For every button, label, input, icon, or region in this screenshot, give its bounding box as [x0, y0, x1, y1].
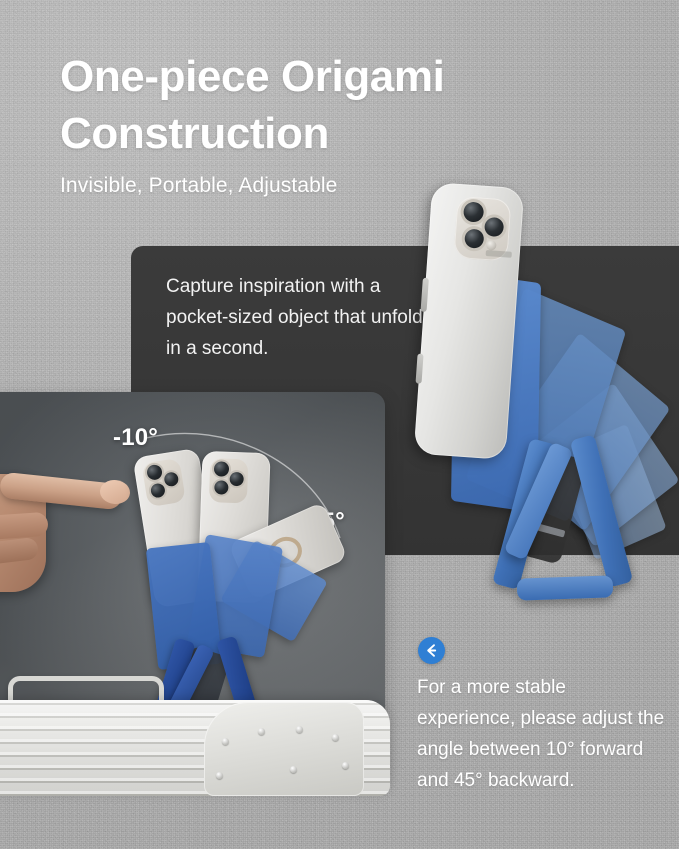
stability-note-text: For a more stable experience, please adj…	[417, 672, 667, 796]
suitcase-rivet	[296, 726, 303, 733]
product-photo-phone-stand	[405, 185, 679, 615]
suitcase-rivet	[258, 728, 265, 735]
product-feature-page: One-piece Origami Construction Invisible…	[0, 0, 679, 849]
feature-dark-card-text: Capture inspiration with a pocket-sized …	[166, 271, 436, 364]
camera-module	[142, 458, 186, 507]
pointing-hand	[0, 452, 130, 602]
suitcase-rivet	[290, 766, 297, 773]
kickstand-leg-right	[570, 434, 633, 587]
suitcase-rivet	[332, 734, 339, 741]
arrow-left-icon	[418, 637, 445, 664]
suitcase-corner-panel	[204, 702, 364, 796]
suitcase	[0, 700, 390, 796]
v-kickstand	[497, 435, 647, 605]
page-title: One-piece Origami Construction	[60, 48, 580, 162]
phone-side-button-power	[416, 353, 424, 383]
angle-label-min: -10°	[113, 424, 158, 452]
suitcase-rivet	[222, 738, 229, 745]
phone-case	[414, 182, 525, 460]
phone-side-button-volume	[421, 278, 429, 312]
suitcase-rivet	[342, 762, 349, 769]
kickstand-foot	[517, 575, 614, 600]
suitcase-rivet	[216, 772, 223, 779]
page-subtitle: Invisible, Portable, Adjustable	[60, 173, 337, 199]
